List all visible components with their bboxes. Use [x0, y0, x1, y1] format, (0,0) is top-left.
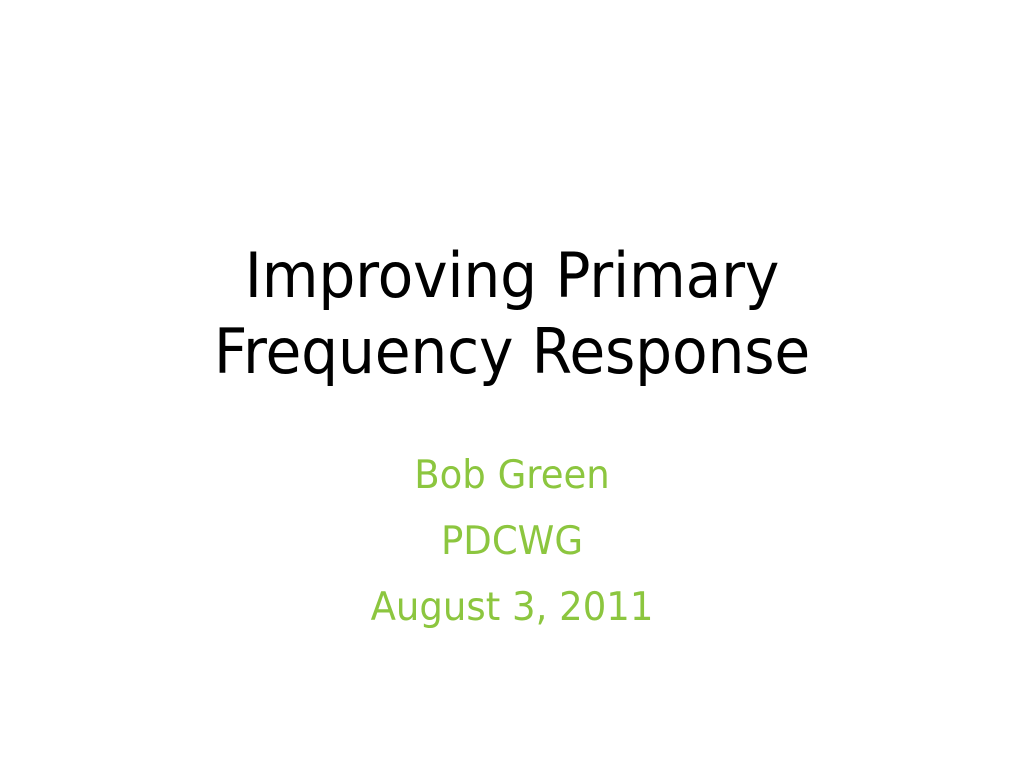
- subtitle-line-group: PDCWG: [86, 509, 937, 575]
- subtitle-placeholder: Bob Green PDCWG August 3, 2011: [64, 443, 960, 641]
- title-placeholder: Improving Primary Frequency Response: [64, 238, 960, 390]
- presentation-slide: Improving Primary Frequency Response Bob…: [0, 0, 1024, 768]
- slide-title: Improving Primary Frequency Response: [91, 238, 933, 390]
- subtitle-line-presenter: Bob Green: [86, 443, 937, 509]
- subtitle-line-date: August 3, 2011: [86, 575, 937, 641]
